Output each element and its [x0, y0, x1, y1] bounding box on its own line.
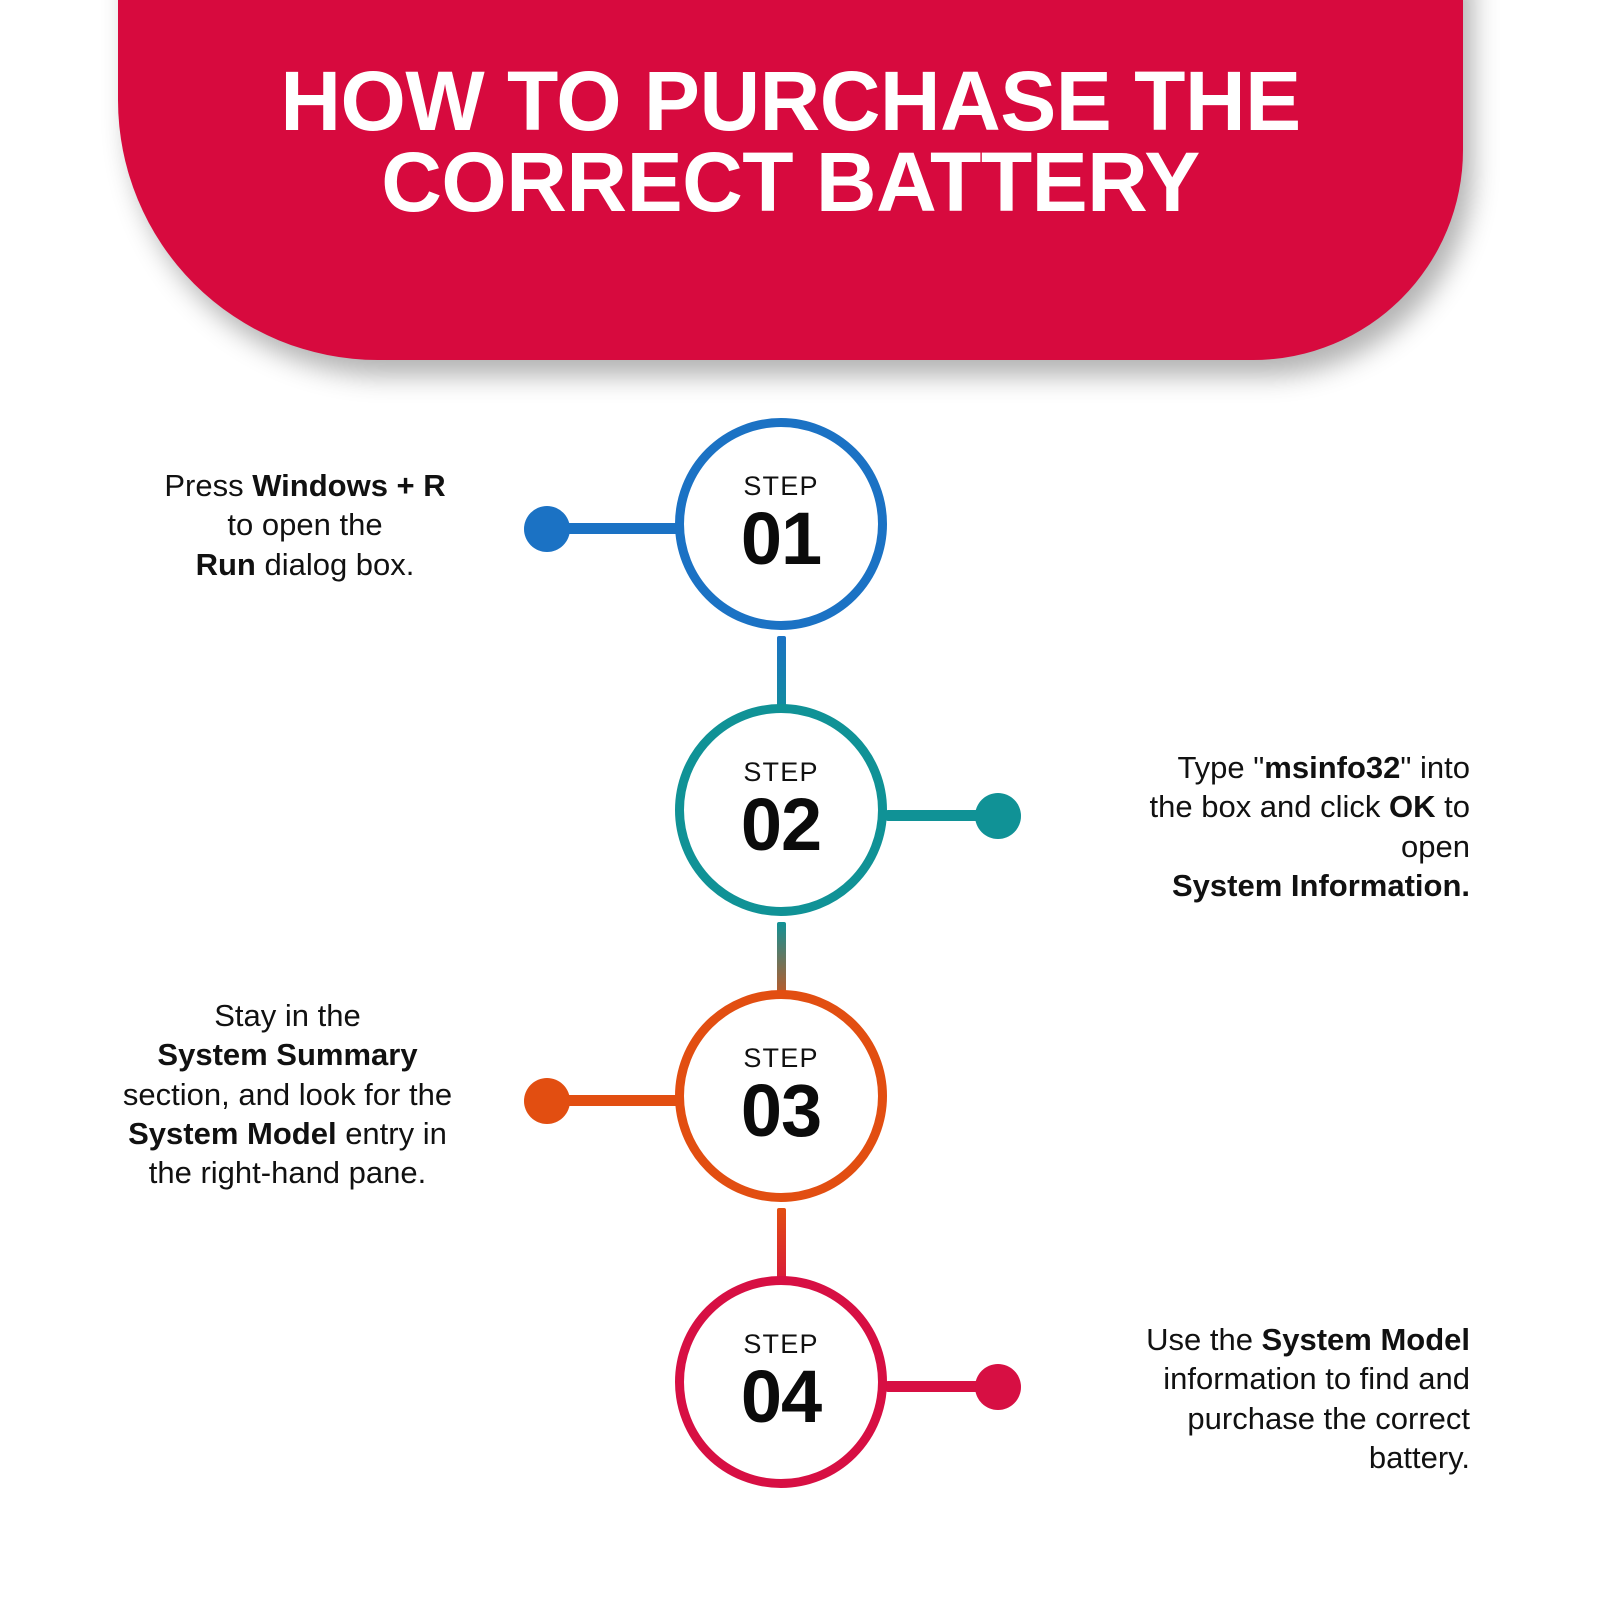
connector-dot-01 — [524, 506, 570, 552]
step-number-03: 03 — [741, 1074, 821, 1148]
step-node-04[interactable]: STEP 04 — [675, 1276, 887, 1488]
step-label-02: STEP — [743, 759, 818, 786]
step-number-02: 02 — [741, 788, 821, 862]
infographic-canvas: HOW TO PURCHASE THE CORRECT BATTERY STEP… — [0, 0, 1600, 1600]
connector-dot-02 — [975, 793, 1021, 839]
step-label-03: STEP — [743, 1045, 818, 1072]
steps-timeline: STEP 01 Press Windows + Rto open theRun … — [0, 0, 1600, 1600]
step-caption-03: Stay in theSystem Summarysection, and lo… — [75, 996, 500, 1193]
step-node-01[interactable]: STEP 01 — [675, 418, 887, 630]
step-label-01: STEP — [743, 473, 818, 500]
step-caption-01: Press Windows + Rto open theRun dialog b… — [85, 466, 525, 584]
step-caption-02: Type "msinfo32" intothe box and click OK… — [1020, 748, 1470, 905]
step-caption-04: Use the System Modelinformation to find … — [1020, 1320, 1470, 1477]
step-number-01: 01 — [741, 502, 821, 576]
step-node-02[interactable]: STEP 02 — [675, 704, 887, 916]
step-node-03[interactable]: STEP 03 — [675, 990, 887, 1202]
step-number-04: 04 — [741, 1360, 821, 1434]
connector-dot-03 — [524, 1078, 570, 1124]
connector-dot-04 — [975, 1364, 1021, 1410]
step-label-04: STEP — [743, 1331, 818, 1358]
